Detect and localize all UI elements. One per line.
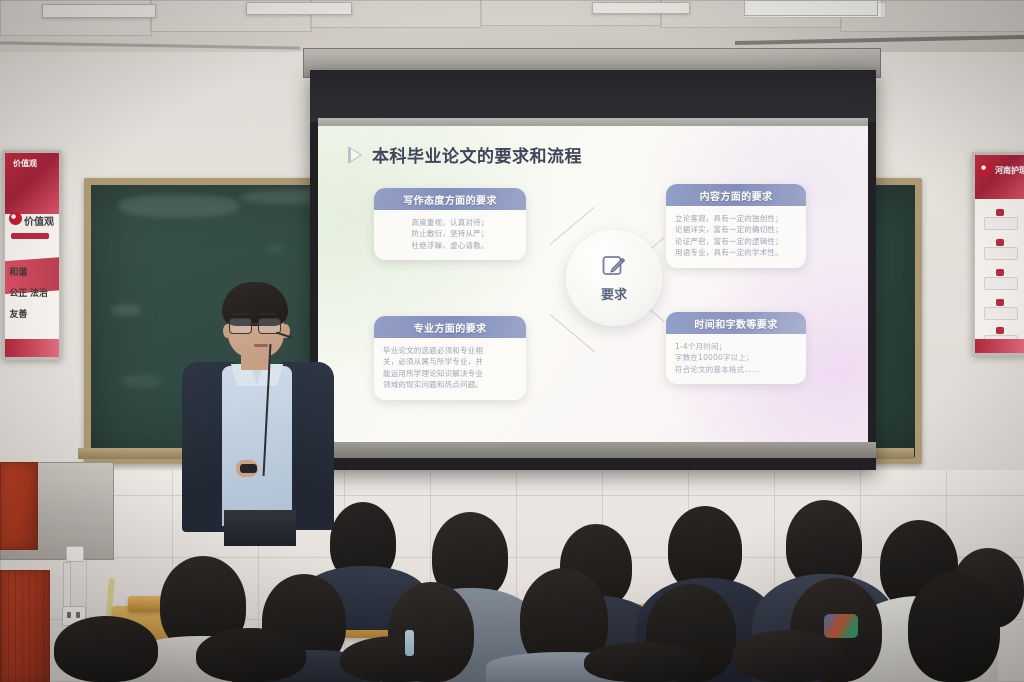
card-header: 内容方面的要求 [666, 184, 806, 206]
card-line: 能运用所学理论知识解决专业 [383, 368, 517, 379]
card-header-label: 专业方面的要求 [414, 320, 487, 335]
water-bottle [405, 630, 414, 656]
card-line: 防止敷衍，坚持从严； [383, 228, 517, 239]
presentation-slide: 本科毕业论文的要求和流程 要求 写作态度方面的要求 高度重视，认真对 [318, 126, 868, 442]
card-time-wordcount: 时间和字数等要求 1-4个月时间； 字数在10000字以上； 符合论文的基本格式… [666, 312, 806, 384]
center-hub: 要求 [566, 230, 662, 326]
audience-head [584, 642, 700, 682]
card-header: 写作态度方面的要求 [374, 188, 526, 210]
poster-left-line: 和谐 [9, 265, 27, 278]
card-body: 1-4个月时间； 字数在10000字以上； 符合论文的基本格式…… [666, 334, 806, 384]
classroom-lecture-photo: 会议室 价值观 价值观 和谐 公正 法治 友善 河南护理 [0, 0, 1024, 682]
wall-conduit [63, 562, 71, 612]
audience-head [196, 628, 306, 682]
card-header: 时间和字数等要求 [666, 312, 806, 334]
card-line: 立论客观，具有一定的独创性； [675, 213, 797, 224]
center-hub-label: 要求 [601, 284, 627, 303]
presenter [178, 282, 338, 544]
card-content-requirements: 内容方面的要求 立论客观，具有一定的独创性； 论据详实，富有一定的确切性； 论证… [666, 184, 806, 268]
audience-head [908, 572, 1000, 682]
ceiling-sign-plate [744, 0, 878, 16]
poster-left-line: 公正 法治 [9, 286, 48, 299]
card-major-requirements: 专业方面的要求 毕业论文的选题必须和专业相 关，必须从属与所学专业，并 能运用所… [374, 316, 526, 400]
card-body: 立论客观，具有一定的独创性； 论据详实，富有一定的确切性； 论证严密，富有一定的… [666, 206, 806, 268]
edit-pencil-icon [601, 253, 627, 279]
card-line: 符合论文的基本格式…… [675, 364, 797, 375]
trousers [224, 510, 296, 546]
audience-head [340, 636, 452, 682]
wall-junction-box [66, 546, 84, 562]
screen-bottom-bar [310, 442, 876, 458]
card-line: 领域的现实问题和热点问题。 [383, 379, 517, 390]
card-line: 字数在10000字以上； [675, 352, 797, 363]
card-body: 高度重视，认真对待； 防止敷衍，坚持从严； 杜绝浮躁，虚心请教。 [374, 210, 526, 260]
screen-valance [310, 70, 876, 122]
card-line: 论证严密，富有一定的逻辑性； [675, 236, 797, 247]
card-header-label: 写作态度方面的要求 [403, 192, 497, 207]
slide-title: 本科毕业论文的要求和流程 [372, 142, 582, 167]
connector-line [550, 314, 595, 352]
card-writing-attitude: 写作态度方面的要求 高度重视，认真对待； 防止敷衍，坚持从严； 杜绝浮躁，虚心请… [374, 188, 526, 260]
poster-left-line: 友善 [9, 307, 27, 320]
card-line: 用语专业，具有一定的学术性。 [675, 247, 797, 258]
card-header: 专业方面的要求 [374, 316, 526, 338]
poster-left-heading: 价值观 [13, 158, 37, 169]
colorful-bag [824, 614, 858, 638]
triangle-play-icon [348, 146, 362, 164]
card-header-label: 时间和字数等要求 [694, 316, 777, 331]
card-line: 论据详实，富有一定的确切性； [675, 224, 797, 235]
card-body: 毕业论文的选题必须和专业相 关，必须从属与所学专业，并 能运用所学理论知识解决专… [374, 338, 526, 400]
wall-poster-right: 河南护理 [972, 152, 1024, 356]
poster-left-title-2: 价值观 [24, 213, 54, 228]
wall-cabinet-lower [0, 570, 50, 682]
wall-cabinet-upper [0, 462, 38, 550]
ceiling-light [246, 2, 352, 15]
slide-title-row: 本科毕业论文的要求和流程 [348, 142, 582, 167]
presentation-clicker [240, 464, 257, 473]
card-header-label: 内容方面的要求 [700, 188, 773, 203]
card-line: 杜绝浮躁，虚心请教。 [383, 240, 517, 251]
card-line: 关，必须从属与所学专业，并 [383, 356, 517, 367]
ceiling-light [42, 4, 156, 18]
card-line: 高度重视，认真对待； [383, 217, 517, 228]
audience-head [54, 616, 158, 682]
card-line: 1-4个月时间； [675, 341, 797, 352]
card-line: 毕业论文的选题必须和专业相 [383, 345, 517, 356]
poster-right-heading: 河南护理 [995, 165, 1024, 176]
ceiling-light [592, 2, 690, 14]
dress-shirt [222, 366, 292, 526]
eyeglasses [229, 318, 252, 334]
wall-poster-left: 价值观 价值观 和谐 公正 法治 友善 [2, 150, 62, 360]
